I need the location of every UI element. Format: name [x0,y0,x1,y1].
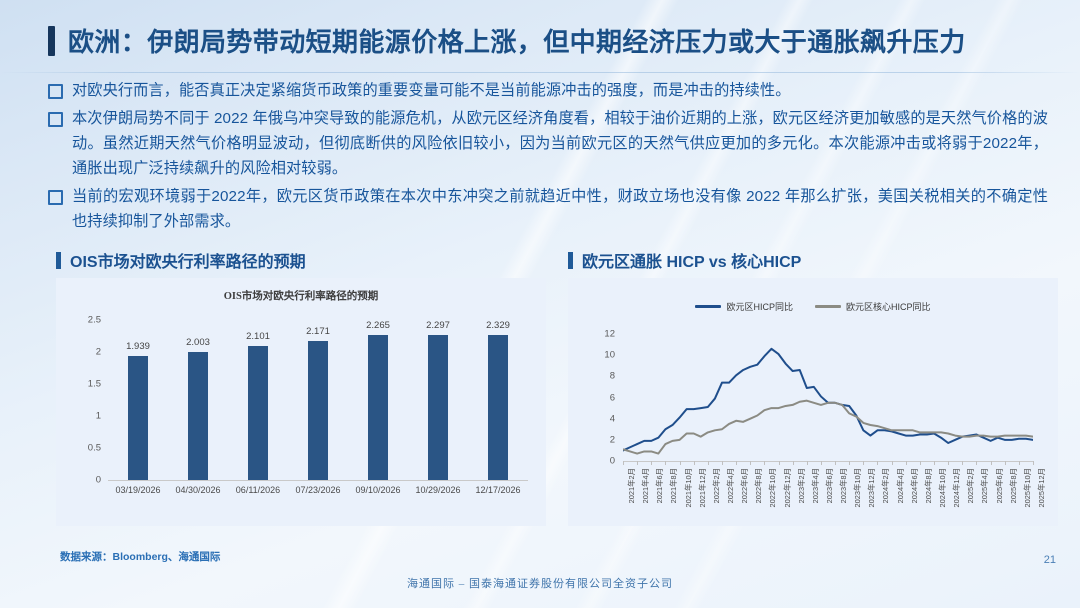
line-x-tick [920,461,921,465]
slide-title: 欧洲：伊朗局势带动短期能源价格上涨，但中期经济压力或大于通胀飙升压力 [48,22,966,59]
bar-chart-panel: OIS市场对欧央行利率路径的预期 00.511.522.51.9392.0032… [56,278,546,526]
line-x-tick [877,461,878,465]
line-x-tick [934,461,935,465]
bar-value-label: 2.329 [486,320,510,331]
bar-x-tick-label: 03/19/2026 [115,485,160,495]
line-x-tick-label: 2025年6月 [994,468,1005,503]
line-x-tick [793,461,794,465]
bar-y-tick-label: 2.5 [88,315,101,326]
line-x-tick-label: 2022年12月 [782,468,793,507]
line-chart-panel: 欧元区HICP同比欧元区核心HICP同比 024681012 2021年2月20… [568,278,1058,526]
bar-chart-title: OIS市场对欧央行利率路径的预期 [56,288,546,303]
line-x-tick-label: 2024年10月 [937,468,948,507]
line-x-tick [1005,461,1006,465]
line-x-tick [849,461,850,465]
bullet-square-icon [48,84,63,99]
bar-y-tick-label: 0.5 [88,443,101,454]
line-x-tick [623,461,624,465]
bar-value-label: 2.003 [186,337,210,348]
bar-value-label: 2.297 [426,320,450,331]
source-note: 数据来源：Bloomberg、海通国际 [60,549,220,564]
bar-column: 2.329 [468,320,528,480]
left-heading-accent [56,252,61,269]
bar-x-tick-label: 07/23/2026 [295,485,340,495]
line-x-tick [835,461,836,465]
line-y-tick-label: 2 [610,434,615,445]
bullet-text: 本次伊朗局势不同于 2022 年俄乌冲突导致的能源危机，从欧元区经济角度看，相较… [72,106,1048,181]
line-x-tick [906,461,907,465]
line-x-tick [1019,461,1020,465]
line-x-tick-label: 2024年6月 [909,468,920,503]
slide-root: 欧洲：伊朗局势带动短期能源价格上涨，但中期经济压力或大于通胀飙升压力 对欧央行而… [0,0,1080,608]
title-accent-bar [48,26,55,56]
line-x-tick [892,461,893,465]
line-x-tick-label: 2021年6月 [654,468,665,503]
right-heading-text: 欧元区通胀 HICP vs 核心HICP [582,248,801,272]
line-y-tick-label: 10 [604,350,615,361]
line-x-tick [779,461,780,465]
bar-x-tick-label: 04/30/2026 [175,485,220,495]
bar-value-label: 2.265 [366,320,390,331]
line-x-tick-label: 2023年12月 [866,468,877,507]
right-chart-heading: 欧元区通胀 HICP vs 核心HICP [568,248,801,272]
line-x-tick-label: 2025年2月 [965,468,976,503]
line-x-tick [722,461,723,465]
line-y-tick-label: 6 [610,392,615,403]
line-x-tick [807,461,808,465]
bar-value-label: 2.171 [306,326,330,337]
bar-rect [308,341,328,480]
line-x-tick [637,461,638,465]
legend-swatch [695,305,721,309]
bar-y-tick-label: 1 [96,411,101,422]
bar-column: 2.101 [228,320,288,480]
bar-rect [428,335,448,480]
bar-y-tick-label: 2 [96,347,101,358]
line-x-tick [991,461,992,465]
bullet-item: 当前的宏观环境弱于2022年，欧元区货币政策在本次中东冲突之前就趋近中性，财政立… [48,184,1048,234]
bar-x-tick-label: 10/29/2026 [415,485,460,495]
bullet-text: 对欧央行而言，能否真正决定紧缩货币政策的重要变量可能不是当前能源冲击的强度，而是… [72,78,791,103]
title-divider [0,72,1080,73]
bullet-square-icon [48,190,63,205]
bullet-list: 对欧央行而言，能否真正决定紧缩货币政策的重要变量可能不是当前能源冲击的强度，而是… [48,78,1048,237]
bar-column: 2.003 [168,320,228,480]
line-y-tick-label: 12 [604,329,615,340]
legend-item: 欧元区HICP同比 [695,300,793,313]
bar-column: 2.265 [348,320,408,480]
bar-x-tick-label: 06/11/2026 [236,485,280,495]
legend-swatch [815,305,841,309]
bar-y-tick-label: 1.5 [88,379,101,390]
bar-column: 2.171 [288,320,348,480]
line-x-tick-label: 2022年10月 [767,468,778,507]
bullet-item: 对欧央行而言，能否真正决定紧缩货币政策的重要变量可能不是当前能源冲击的强度，而是… [48,78,1048,103]
line-x-tick-label: 2023年6月 [824,468,835,503]
line-y-tick-label: 8 [610,371,615,382]
line-x-tick-label: 2022年8月 [753,468,764,503]
line-x-tick-label: 2024年2月 [880,468,891,503]
line-x-tick-label: 2023年10月 [852,468,863,507]
bullet-text: 当前的宏观环境弱于2022年，欧元区货币政策在本次中东冲突之前就趋近中性，财政立… [72,184,1048,234]
bullet-item: 本次伊朗局势不同于 2022 年俄乌冲突导致的能源危机，从欧元区经济角度看，相较… [48,106,1048,181]
bullet-square-icon [48,112,63,127]
line-x-tick-label: 2021年2月 [626,468,637,503]
line-x-tick [948,461,949,465]
line-x-tick-label: 2025年12月 [1036,468,1047,507]
bar-value-label: 1.939 [126,341,150,352]
legend-label: 欧元区HICP同比 [726,300,793,313]
bar-chart-plot: 00.511.522.51.9392.0032.1012.1712.2652.2… [108,320,528,480]
line-chart-plot: 024681012 [623,334,1033,461]
left-chart-heading: OIS市场对欧央行利率路径的预期 [56,248,306,272]
line-x-tick [750,461,751,465]
line-chart-axis [623,461,1033,462]
line-series [623,401,1033,454]
bar-rect [128,356,148,480]
line-x-tick [821,461,822,465]
bar-rect [248,346,268,480]
line-x-tick-label: 2023年4月 [810,468,821,503]
line-x-tick-label: 2022年2月 [711,468,722,503]
line-chart-legend: 欧元区HICP同比欧元区核心HICP同比 [568,300,1058,313]
right-heading-accent [568,252,573,269]
bar-x-tick-label: 09/10/2026 [355,485,400,495]
line-x-tick [736,461,737,465]
line-x-tick [764,461,765,465]
page-number: 21 [1044,554,1056,566]
line-x-tick-label: 2024年12月 [951,468,962,507]
bar-column: 2.297 [408,320,468,480]
line-x-tick-label: 2022年4月 [725,468,736,503]
line-x-tick-label: 2025年8月 [1008,468,1019,503]
bar-y-tick-label: 0 [96,475,101,486]
left-heading-text: OIS市场对欧央行利率路径的预期 [70,248,306,272]
line-x-tick [1033,461,1034,465]
line-x-tick-label: 2021年8月 [668,468,679,503]
line-y-tick-label: 0 [610,456,615,467]
line-x-tick [976,461,977,465]
line-x-tick [694,461,695,465]
line-x-tick-label: 2025年4月 [979,468,990,503]
page-title: 欧洲：伊朗局势带动短期能源价格上涨，但中期经济压力或大于通胀飙升压力 [68,22,966,59]
line-x-tick [708,461,709,465]
legend-label: 欧元区核心HICP同比 [846,300,931,313]
legend-item: 欧元区核心HICP同比 [815,300,931,313]
bar-column: 1.939 [108,320,168,480]
bar-rect [488,335,508,480]
line-y-tick-label: 4 [610,413,615,424]
line-x-tick-label: 2021年12月 [697,468,708,507]
line-x-tick [665,461,666,465]
line-x-tick-label: 2024年4月 [895,468,906,503]
line-x-tick [651,461,652,465]
line-x-tick-label: 2023年8月 [838,468,849,503]
bar-rect [368,335,388,480]
line-x-tick-label: 2022年6月 [739,468,750,503]
footer-note: 海通国际 – 国泰海通证券股份有限公司全资子公司 [0,575,1080,591]
line-x-tick-label: 2023年2月 [796,468,807,503]
line-x-tick-label: 2021年4月 [640,468,651,503]
bar-rect [188,352,208,480]
bar-value-label: 2.101 [246,331,270,342]
line-x-tick-label: 2024年8月 [923,468,934,503]
line-chart-svg [623,334,1033,461]
line-x-tick [680,461,681,465]
line-x-tick [962,461,963,465]
bar-x-tick-label: 12/17/2026 [475,485,520,495]
line-x-tick [863,461,864,465]
bar-chart-axis [108,480,528,481]
line-x-tick-label: 2025年10月 [1022,468,1033,507]
line-x-tick-label: 2021年10月 [683,468,694,507]
